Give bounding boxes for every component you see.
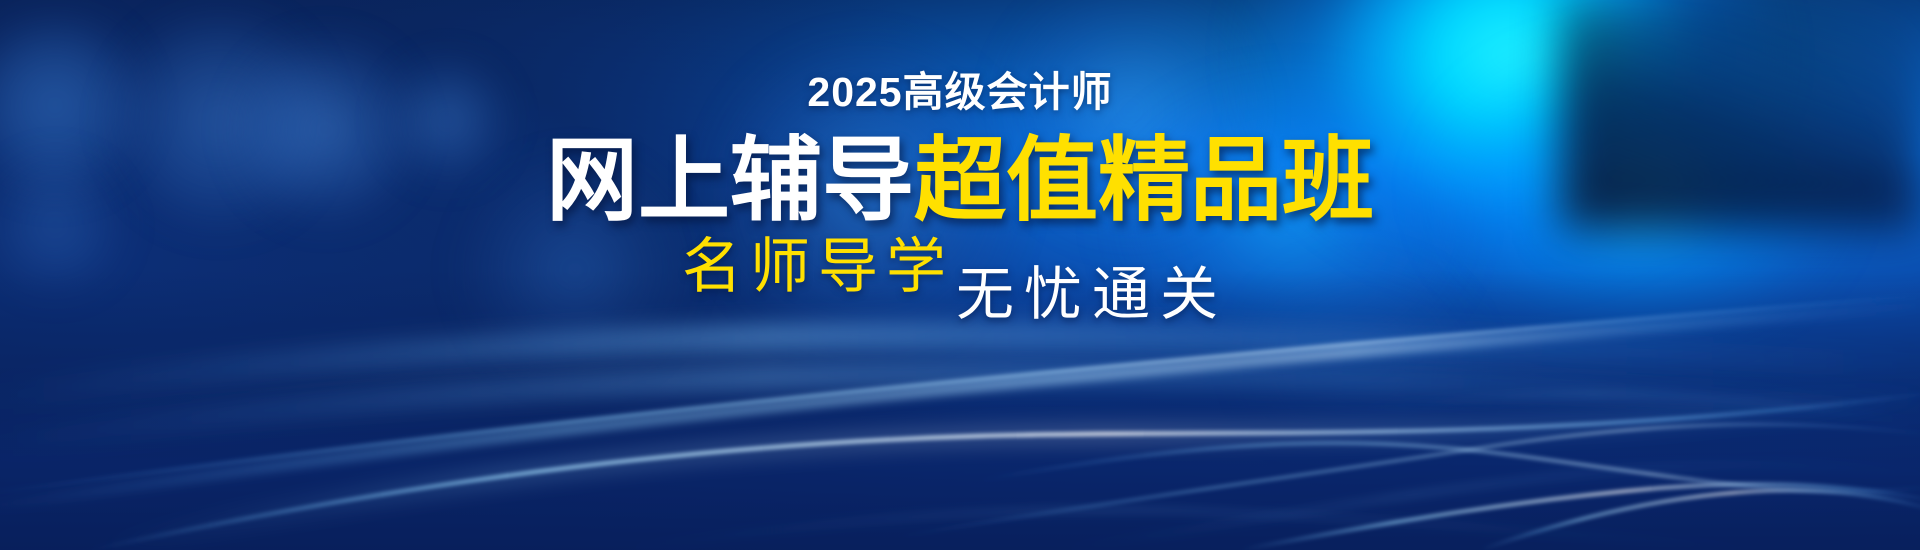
subline-yellow-part: 名师导学 [682,237,954,297]
banner-text-block: 2025高级会计师 网上辅导超值精品班 名师导学无忧通关 [0,0,1920,550]
headline-white-part: 网上辅导 [546,130,914,232]
promo-banner: 2025高级会计师 网上辅导超值精品班 名师导学无忧通关 [0,0,1920,550]
subline-white-part: 无忧通关 [956,265,1228,323]
headline-yellow-part: 超值精品班 [914,130,1374,232]
banner-eyebrow: 2025高级会计师 [807,72,1112,113]
banner-headline: 网上辅导超值精品班 [546,135,1374,227]
banner-subline: 名师导学无忧通关 [682,237,1228,323]
